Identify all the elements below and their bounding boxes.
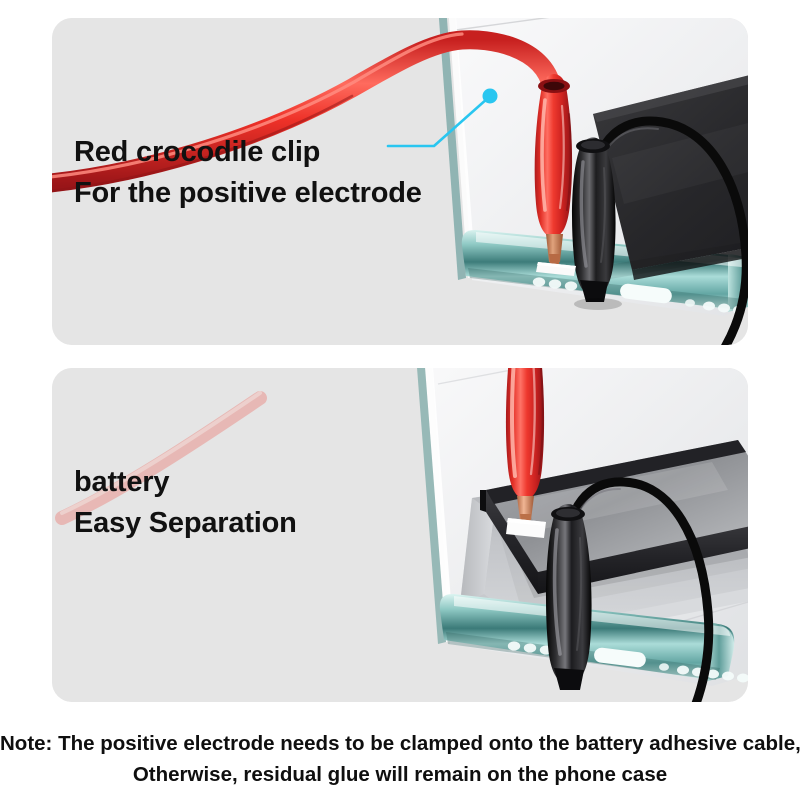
- footer-note-line-2: Otherwise, residual glue will remain on …: [0, 759, 800, 790]
- panel-1-caption-line-2: For the positive electrode: [74, 179, 422, 208]
- black-crocodile-clip: [572, 138, 616, 303]
- panel-2-scene: battery Easy Separation: [52, 368, 748, 702]
- footer-note: Note: The positive electrode needs to be…: [0, 728, 800, 790]
- footer-note-line-1: Note: The positive electrode needs to be…: [0, 728, 800, 759]
- panel-2-caption-line-2: Easy Separation: [74, 509, 297, 538]
- panel-1-caption-line-1: Red crocodile clip: [74, 138, 320, 167]
- panel-red-clip: Red crocodile clip For the positive elec…: [52, 18, 748, 345]
- panel-2-caption-line-1: battery: [74, 468, 169, 497]
- infographic-root: Red crocodile clip For the positive elec…: [0, 0, 800, 800]
- black-crocodile-clip: [546, 504, 592, 690]
- panel-easy-separation: battery Easy Separation: [52, 368, 748, 702]
- panel-1-scene: Red crocodile clip For the positive elec…: [52, 18, 748, 345]
